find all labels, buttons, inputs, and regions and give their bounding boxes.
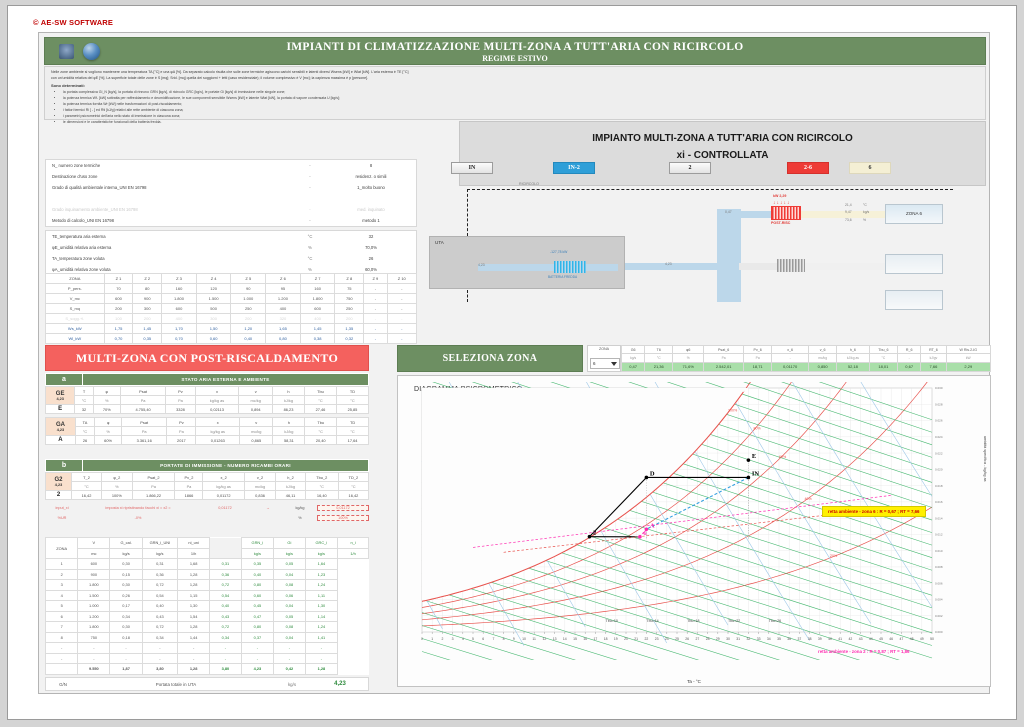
cell-value: 18,01 — [869, 362, 897, 371]
annotation-zone6: retta ambiente - zona 6 : R = 0,67 ; RT … — [822, 506, 926, 517]
cell-value: 1,28 — [178, 622, 210, 633]
cell-value: 1,24 — [305, 622, 338, 633]
cell-value: 300 — [133, 304, 162, 314]
col-header: x_2 — [203, 473, 244, 482]
cell-value: 0,72 — [210, 622, 241, 633]
param-label: Destinazione d'uso zone — [46, 174, 294, 179]
cell-value: - — [387, 284, 416, 294]
col-unit: mc/kg — [809, 354, 837, 362]
table-row: 51.0000,170,401,300,400,450,041,30 — [46, 601, 369, 612]
col-unit: kJ/kg as — [837, 354, 870, 362]
param-value[interactable]: residenz. o simili — [326, 174, 416, 179]
col-header: h — [273, 387, 305, 396]
schematic-button-6[interactable]: 6 — [849, 162, 891, 174]
table-unit-row: mc kg/s kg/s 1/h kg/s kg/s kg/s 1/h — [46, 548, 369, 559]
rh-label: 60% — [779, 455, 787, 459]
xtick-label: 20 — [624, 637, 628, 641]
col-unit: °C — [75, 427, 94, 436]
col-unit: °C — [869, 354, 897, 362]
point-IN — [747, 476, 751, 480]
xtick-label: 49 — [920, 637, 924, 641]
cell-value: 600 — [104, 294, 133, 304]
cell-value: 80 — [133, 284, 162, 294]
cell-value: 60% — [95, 436, 122, 445]
cell-value: 160 — [300, 284, 335, 294]
cell-value: 100 — [104, 314, 133, 324]
cell-value: 1.866,22 — [132, 491, 175, 500]
col-header: GRN_i — [241, 538, 274, 549]
cell-value: 1.800 — [162, 294, 197, 304]
col-header: TD — [337, 418, 369, 427]
cell-value: - — [387, 294, 416, 304]
col-header: v_6 — [809, 346, 837, 354]
col-unit: mc/kg — [240, 427, 273, 436]
cell-value: 16,42 — [338, 491, 368, 500]
col-unit: kg/s — [274, 548, 305, 559]
cell-value: 0,35 — [133, 334, 162, 344]
table-row: °C % Pa Pa kg/kg as mc/kg kJ/kg °C °C — [46, 396, 369, 405]
cell-value: 750 — [78, 632, 110, 643]
description-line-2: con un'umidità relativa del φE [%]. La s… — [51, 76, 979, 82]
param-label: Grado inquinamento ambiente_UNI EN 16798 — [46, 207, 294, 212]
xtick-label: 45 — [879, 637, 883, 641]
cell-value: 1.500 — [196, 294, 231, 304]
param-value[interactable]: 1_molto buono — [326, 185, 416, 190]
cell-value: - — [110, 643, 142, 654]
param-value[interactable]: 26 — [326, 256, 416, 261]
cell-value: 0,26 — [110, 590, 142, 601]
xtick-label: 16 — [583, 637, 587, 641]
xtick-label: 23 — [655, 637, 659, 641]
cell-value: 0,45 — [241, 601, 274, 612]
col-header: GRC_i — [305, 538, 338, 549]
cell-value: 2017 — [167, 436, 196, 445]
cell-value: 3,80 — [210, 664, 241, 675]
uta-unit: UTA -127,78 kW BATTERIA FREDDA 4,23 — [429, 236, 625, 289]
ytick-label: 0.008 — [935, 565, 943, 569]
xtick-label: 27 — [696, 637, 700, 641]
xtick-label: 38 — [808, 637, 812, 641]
chart-ylabel: umidità specifica - kg/kg as — [983, 436, 987, 482]
cell-value: 1,44 — [178, 632, 210, 643]
recirculation-duct — [467, 189, 953, 190]
param-unit: - — [294, 207, 326, 212]
col-header: Z 10 — [387, 274, 416, 284]
xtick-label: 50 — [930, 637, 934, 641]
brand-label: © AE-SW SOFTWARE — [33, 18, 113, 27]
zone-other-box-2[interactable] — [885, 290, 943, 310]
cell-value: 120 — [196, 284, 231, 294]
cell-value: 1,15 — [178, 590, 210, 601]
cell-value: 1.000 — [231, 294, 266, 304]
corner-sub: 4,23 — [47, 428, 74, 432]
section-a: a STATO ARIA ESTERNA E AMBIENTE GE 4,23 … — [45, 373, 369, 445]
cell-value: 0,01170 — [772, 362, 809, 371]
col-unit: kg/kg as — [196, 427, 240, 436]
input-ur-hint: -0% — [79, 516, 197, 520]
cell-value: 200 — [335, 314, 364, 324]
input-ur-field[interactable]: 100% — [317, 515, 369, 521]
cell-value: - — [364, 334, 387, 344]
wetbulb-label: Tbu=26 — [769, 619, 781, 623]
cell-value: 0,06 — [274, 590, 305, 601]
cell-value: 86,23 — [273, 405, 305, 414]
point-label-2: 2 — [593, 530, 596, 537]
cell-value: 750 — [335, 294, 364, 304]
wetbulb-label: Tbu=22 — [728, 619, 740, 623]
param-row: φE_umidità relativa aria esterna % 70,0% — [46, 242, 416, 253]
cell-value: 0,43 — [210, 611, 241, 622]
col-unit: kJ/kg — [273, 427, 305, 436]
col-header: x_6 — [772, 346, 809, 354]
cell-value: 0,17 — [110, 601, 142, 612]
param-label: TA_temperatura zone voluta — [46, 256, 294, 261]
xtick-label: 24 — [665, 637, 669, 641]
worksheet: IMPIANTI DI CLIMATIZZAZIONE MULTI-ZONA A… — [38, 32, 990, 694]
cell-value: - — [387, 334, 416, 344]
zone-select-label: ZONA — [588, 346, 620, 351]
cell-value: 1.800 — [300, 294, 335, 304]
xtick-label: 0 — [421, 637, 423, 641]
cell-value: - — [178, 653, 210, 664]
xtick-label: 48 — [910, 637, 914, 641]
param-row: TA_temperatura zone voluta °C 26 — [46, 253, 416, 264]
cell-value: 0,70 — [104, 334, 133, 344]
col-unit: kg/s — [110, 548, 142, 559]
zone-select-control[interactable]: ZONA 6 — [587, 345, 621, 372]
xtick-label: 44 — [869, 637, 873, 641]
uta-flow-in: 4,23 — [478, 263, 485, 267]
schematic-button-in-2[interactable]: IN-2 — [553, 162, 595, 174]
cell-value: - — [78, 643, 110, 654]
param-value[interactable]: 70,0% — [326, 245, 416, 250]
cell-value: - — [210, 653, 241, 664]
total-flow-unit: kg/s — [272, 682, 312, 687]
uta-label: UTA — [435, 240, 444, 245]
cell-value: 0,47 — [241, 611, 274, 622]
table-row: A 26 60% 3.361,16 2017 0,01263 0,865 58,… — [46, 436, 369, 445]
col-header: V — [78, 538, 110, 549]
xtick-label: 3 — [452, 637, 454, 641]
cell-value: 0,850 — [809, 362, 837, 371]
cell-value: 4.755,40 — [120, 405, 166, 414]
param-label: Grado di qualità ambientale interna_UNI … — [46, 185, 294, 190]
param-unit: - — [294, 218, 326, 223]
cell-value: 26 — [75, 436, 94, 445]
ytick-label: 0.016 — [935, 500, 943, 504]
col-header: Z 7 — [300, 274, 335, 284]
col-unit: mc/kg — [239, 396, 273, 405]
table-row: P_pers.7080160120909516075-- — [46, 284, 417, 294]
chevron-down-icon[interactable] — [611, 362, 617, 366]
cell-value: 200 — [133, 314, 162, 324]
param-value[interactable]: metodo 1 — [326, 218, 416, 223]
xtick-label: 36 — [787, 637, 791, 641]
wetbulb-label: Tbu=14 — [646, 619, 658, 623]
cell-value: 0,47 — [622, 362, 645, 371]
cell-value: 0,18 — [110, 632, 142, 643]
cell-value: - — [46, 653, 78, 664]
xtick-label: 17 — [594, 637, 598, 641]
col-header: TD_2 — [338, 473, 368, 482]
corner-label-ga: GA 4,23 — [46, 418, 76, 436]
col-unit: kg/s — [241, 548, 274, 559]
cell-value: 0,40 — [142, 601, 177, 612]
col-unit: kJ/gv — [921, 354, 946, 362]
corner-sub: 4,23 — [47, 397, 73, 401]
zone6-flow: 0,47 — [725, 210, 732, 214]
section-b-tag: b — [46, 460, 82, 471]
cell-value: - — [387, 324, 416, 334]
cell-value: 1,30 — [305, 601, 338, 612]
input-xi-field[interactable]: 0,01172 — [317, 505, 369, 511]
cell-value: 250 — [335, 304, 364, 314]
zone-dropdown[interactable]: 6 — [590, 358, 620, 369]
col-header: n_i — [338, 538, 369, 549]
banner-subtitle: REGIME ESTIVO — [45, 54, 985, 63]
cell-value: 160 — [162, 284, 197, 294]
ytick-label: 0.028 — [935, 402, 943, 406]
cell-value: 90 — [231, 284, 266, 294]
cell-value: 1,28 — [178, 569, 210, 580]
section-a-table-A: GA 4,23 TA φ Psat Pv x v h Tbu TD °C % — [45, 417, 369, 445]
cell-value: 0,836 — [244, 491, 276, 500]
param-row: N_ numero zone termiche - 8 — [46, 160, 416, 171]
table-row: 2 16,42 100% 1.866,22 1866 0,01172 0,836… — [46, 491, 369, 500]
post-heat-coil-icon — [771, 206, 801, 220]
ytick-label: 0.018 — [935, 484, 943, 488]
col-header: Z 1 — [104, 274, 133, 284]
col-unit: Pa — [744, 354, 772, 362]
table-row: V_mc6009001.8001.5001.0001.2001.800750-- — [46, 294, 417, 304]
xtick-label: 11 — [532, 637, 536, 641]
wetbulb-label: Tbu=10 — [606, 619, 618, 623]
col-header: T6 — [645, 346, 673, 354]
schematic-button-2[interactable]: 2 — [669, 162, 711, 174]
col-unit: °C — [338, 482, 368, 491]
col-header: T — [75, 387, 93, 396]
table-row: 29000,150,361,280,360,400,041,23 — [46, 569, 369, 580]
cell-value: 1,14 — [305, 611, 338, 622]
col-header: G_cal. — [110, 538, 142, 549]
col-header: Pv_2 — [175, 473, 203, 482]
col-unit: Pa — [132, 482, 175, 491]
col-unit: - — [772, 354, 809, 362]
param-label: φA_umidità relativa zone voluta — [46, 267, 294, 272]
col-unit: kg/s — [142, 548, 177, 559]
col-unit: Pa — [120, 396, 166, 405]
rh-label: 100% — [728, 409, 738, 413]
col-header: Z 4 — [196, 274, 231, 284]
col-header: Z 9 — [364, 274, 387, 284]
cell-value: 0,70 — [162, 334, 197, 344]
title-banner: IMPIANTI DI CLIMATIZZAZIONE MULTI-ZONA A… — [44, 37, 986, 65]
col-unit: °C — [71, 482, 101, 491]
param-spacer-row — [46, 193, 416, 204]
col-header: Psat — [122, 418, 167, 427]
cell-value: 2.542,01 — [704, 362, 744, 371]
select-zone-header: SELEZIONA ZONA — [397, 345, 583, 372]
schematic-button-2-6[interactable]: 2-6 — [787, 162, 829, 174]
cell-value: 25,85 — [336, 405, 368, 414]
xtick-label: 43 — [859, 637, 863, 641]
cell-value: 600 — [162, 304, 197, 314]
schematic-button-in[interactable]: IN — [451, 162, 493, 174]
cell-value: 600 — [300, 304, 335, 314]
xtick-label: 9 — [513, 637, 515, 641]
cell-value: 1,87 — [110, 664, 142, 675]
corner-label-g2: G2 4,23 — [46, 473, 72, 491]
col-header: φ — [93, 387, 120, 396]
param-unit: - — [294, 174, 326, 179]
section-b-header: b PORTATE DI IMMISSIONE - NUMERO RICAMBI… — [45, 459, 369, 472]
zone-stats-table: G6T6φ6Psat_6Pv_6x_6v_6h_6Tbu_6R_6RT_6W R… — [621, 345, 991, 372]
col-header: v_2 — [244, 473, 276, 482]
cell-value: 6 — [46, 611, 78, 622]
xtick-label: 22 — [645, 637, 649, 641]
col-header: TA — [75, 418, 94, 427]
table-row: Ws_kW1,751,451,701,501,201,651,451,35-- — [46, 324, 417, 334]
cell-value: 100% — [102, 491, 133, 500]
param-unit: °C — [294, 256, 326, 261]
cell-value — [46, 664, 78, 675]
heat-arrows-icon: ↓↓↓↓↓ — [773, 200, 801, 206]
plant-title-line-1: IMPIANTO MULTI-ZONA A TUTT'ARIA CON RICI… — [460, 133, 985, 144]
cell-value: 1,70 — [162, 324, 197, 334]
col-unit: 1/h — [178, 548, 210, 559]
input-xi-unit: kg/kg — [283, 506, 317, 510]
col-header: v — [240, 418, 273, 427]
other-supply-duct — [805, 263, 885, 270]
cell-value: 1 — [46, 559, 78, 570]
point-D — [645, 476, 649, 480]
banner-title: IMPIANTI DI CLIMATIZZAZIONE MULTI-ZONA A… — [45, 41, 985, 53]
col-unit: kg/s — [305, 548, 338, 559]
cell-value: 0,31 — [210, 559, 241, 570]
cell-value: - — [364, 324, 387, 334]
cell-value: 70 — [104, 284, 133, 294]
psychrometric-chart: DIAGRAMMA PSICROMETRICO 0123456789101112… — [397, 375, 991, 687]
cell-value: 2,29 — [946, 362, 990, 371]
other-coil-icon — [777, 259, 805, 272]
col-unit: kW — [946, 354, 990, 362]
plant-title-line-2: xi - CONTROLLATA — [460, 150, 985, 161]
zone-other-box[interactable] — [885, 254, 943, 274]
cell-value: 16,40 — [305, 491, 338, 500]
col-unit: kJ/kg — [273, 396, 305, 405]
xtick-label: 15 — [573, 637, 577, 641]
cold-coil-power: -127,78 kW — [550, 250, 567, 254]
param-value[interactable]: 32 — [326, 234, 416, 239]
table-total-row: 9.5501,873,801,283,804,230,421,28 — [46, 664, 369, 675]
xtick-label: 33 — [757, 637, 761, 641]
cell-value: 0,01172 — [203, 491, 244, 500]
cell-value: 52,18 — [837, 362, 870, 371]
table-header-row: ZONAZ 1Z 2Z 3Z 4Z 5Z 6Z 7Z 8Z 9Z 10 — [46, 274, 417, 284]
zone-6-box[interactable]: ZONA 6 — [885, 204, 943, 224]
cell-value: - — [142, 653, 177, 664]
param-row: Destinazione d'uso zone - residenz. o si… — [46, 171, 416, 182]
cell-value: 1866 — [175, 491, 203, 500]
cell-value: 58,31 — [273, 436, 305, 445]
param-value[interactable]: 8 — [326, 163, 416, 168]
cell-value: 0,04 — [274, 569, 305, 580]
cell-value: 1.800 — [78, 580, 110, 591]
point-6 — [638, 535, 642, 539]
zone6-temp: 21,4 — [845, 203, 852, 207]
col-unit: °C — [305, 482, 338, 491]
col-unit: % — [93, 396, 120, 405]
cell-value: 0,05 — [274, 611, 305, 622]
param-value[interactable]: 60,0% — [326, 267, 416, 272]
corner-sub: 4,23 — [47, 483, 70, 487]
cell-value: 0,67 — [898, 362, 921, 371]
table-value-row: 0,4721,3671,6%2.542,0118,710,011700,8505… — [622, 362, 991, 371]
cell-value: 0,80 — [266, 334, 301, 344]
col-header: Psat_6 — [704, 346, 744, 354]
param-unit: % — [294, 267, 326, 272]
description-subtitle: Sono determinati: — [51, 83, 979, 89]
cell-value: - — [364, 294, 387, 304]
table-row: °C % Pa Pa kg/kg as mc/kg kJ/kg °C °C — [46, 482, 369, 491]
cell-value: 0,38 — [300, 334, 335, 344]
cell-value: - — [241, 653, 274, 664]
xtick-label: 39 — [818, 637, 822, 641]
cell-value: 1,45 — [133, 324, 162, 334]
ytick-label: 0.022 — [935, 451, 943, 455]
table-header-row: G6T6φ6Psat_6Pv_6x_6v_6h_6Tbu_6R_6RT_6W R… — [622, 346, 991, 354]
multizona-header: MULTI-ZONA CON POST-RISCALDAMENTO — [45, 345, 369, 371]
cell-value: 1.200 — [78, 611, 110, 622]
col-unit: kg/kg as — [203, 482, 244, 491]
xtick-label: 12 — [543, 637, 547, 641]
col-unit: Pa — [175, 482, 203, 491]
param-unit: °C — [294, 234, 326, 239]
cell-value: 7,66 — [921, 362, 946, 371]
xtick-label: 46 — [889, 637, 893, 641]
table-row: GE 4,23 T φ Psat Pv x v h Tbu TD — [46, 387, 369, 396]
cell-value: 400 — [162, 314, 197, 324]
cell-value: 7 — [46, 622, 78, 633]
total-flow-row: G/N Portata totale in UTA kg/s 4,23 — [45, 677, 369, 691]
table-row: S_mq200300600500250400600250-- — [46, 304, 417, 314]
row-label: Wl_kW — [46, 334, 105, 344]
cell-value: - — [274, 653, 305, 664]
xtick-label: 21 — [634, 637, 638, 641]
section-b-title: PORTATE DI IMMISSIONE - NUMERO RICAMBI O… — [82, 460, 368, 471]
recirculation-down — [467, 189, 468, 236]
section-a-title: STATO ARIA ESTERNA E AMBIENTE — [82, 374, 368, 385]
ytick-label: 0.024 — [935, 435, 943, 439]
col-unit: % — [95, 427, 122, 436]
zone-6-label: ZONA 6 — [886, 211, 942, 216]
col-unit: kg/kg as — [195, 396, 239, 405]
xtick-label: 29 — [716, 637, 720, 641]
col-unit: °C — [304, 396, 336, 405]
cell-value: 0,37 — [241, 632, 274, 643]
recirculation-label: RICIRCOLO — [519, 182, 539, 186]
table-row: °C % Pa Pa kg/kg as mc/kg kJ/kg °C °C — [46, 427, 369, 436]
col-unit: mc/kg — [244, 482, 276, 491]
cell-value: 1,50 — [196, 324, 231, 334]
col-header: h — [273, 418, 305, 427]
ytick-label: 0.014 — [935, 516, 943, 520]
cell-value: 0,31 — [142, 559, 177, 570]
cell-value: 1,65 — [266, 324, 301, 334]
xtick-label: 6 — [482, 637, 484, 641]
col-header: Psat — [120, 387, 166, 396]
cell-value: 3 — [46, 580, 78, 591]
